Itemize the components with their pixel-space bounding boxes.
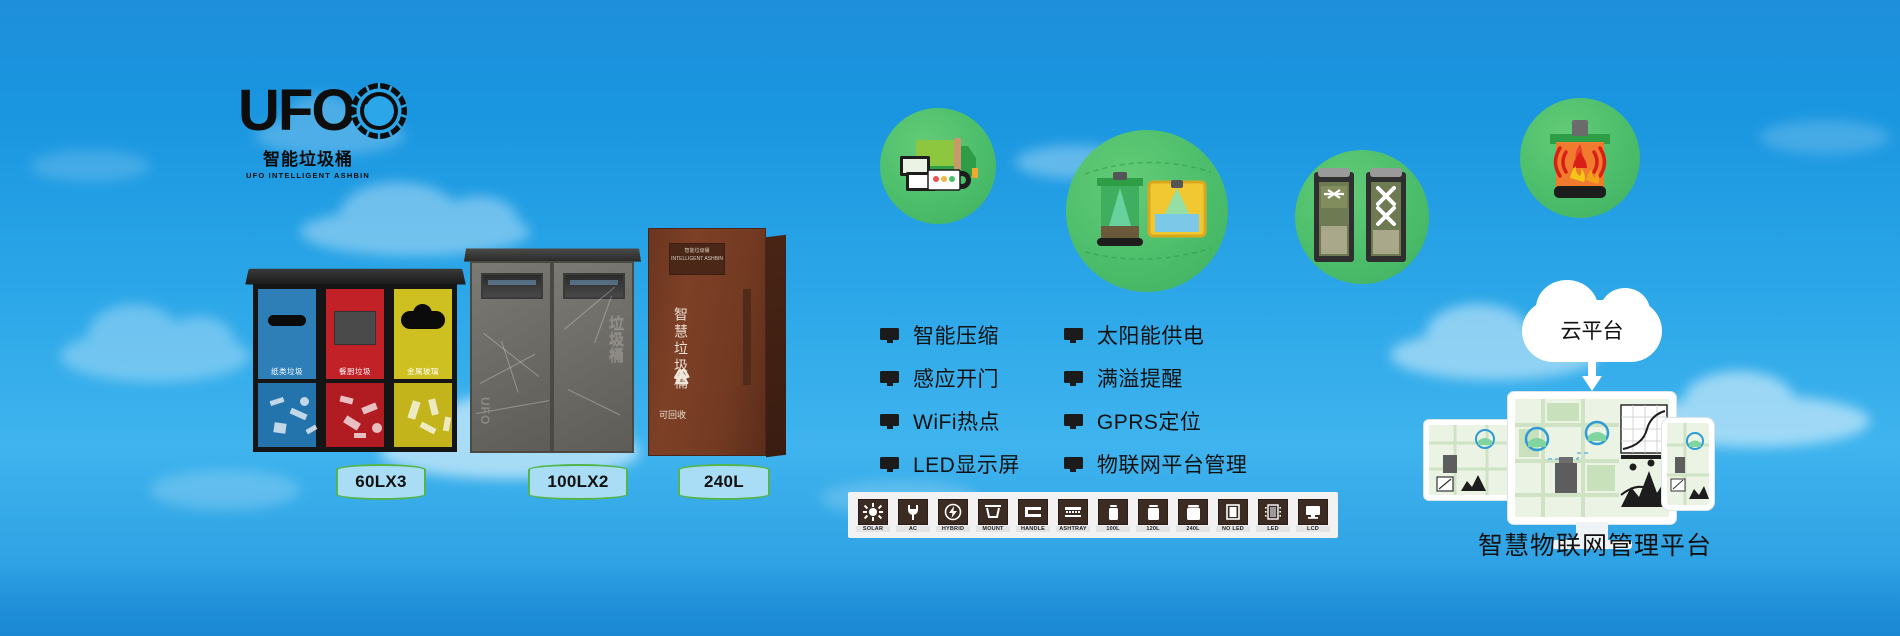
feature-item: 物联网平台管理: [1064, 449, 1248, 479]
spec-item-ac: AC: [896, 499, 930, 532]
dashboard-phone: [1662, 418, 1714, 510]
spec-item-100l: 100L: [1096, 499, 1130, 532]
spec-label: LCD: [1296, 526, 1330, 532]
feature-item: 满溢提醒: [1064, 363, 1248, 393]
cloud-decor: [60, 330, 250, 382]
compartment-label: 纸类垃圾: [258, 366, 316, 377]
bin-window-icon: [563, 273, 625, 299]
waste-graphic: [264, 389, 310, 441]
logo-chinese-name: 智能垃圾桶: [238, 145, 378, 170]
hybrid-power-icon: [938, 499, 968, 525]
drop-panel-icon: [334, 311, 376, 345]
compression-bin-circle: [1295, 150, 1429, 284]
monitor-icon: [1064, 371, 1083, 386]
drop-hole-icon: [401, 311, 445, 329]
compartment-upper: 纸类垃圾: [258, 289, 316, 385]
logo-wordmark: UFO: [238, 82, 354, 140]
brand-logo: UFO: [238, 82, 378, 180]
monitor-icon: [880, 457, 899, 472]
monitor-icon: [880, 414, 899, 429]
feature-item: GPRS定位: [1064, 406, 1248, 436]
bin-120l-icon: [1138, 499, 1168, 525]
compartment-label: 餐厨垃圾: [326, 366, 384, 377]
sun-icon: [858, 499, 888, 525]
fire-alarm-circle: [1520, 98, 1640, 218]
bin-window-icon: [481, 273, 543, 299]
map-graphic: [1667, 423, 1709, 505]
lcd-screen-icon: [1298, 499, 1328, 525]
dashboard-tablet: [1424, 420, 1520, 500]
spec-label: MOUNT: [976, 526, 1010, 532]
spec-label: LED: [1256, 526, 1290, 532]
ashtray-icon: [1058, 499, 1088, 525]
spec-item-no-led: NO LED: [1216, 499, 1250, 532]
monitor-icon: [880, 328, 899, 343]
ring-gear-icon: [350, 82, 408, 140]
bin-compartment-kitchen: 餐厨垃圾: [321, 284, 389, 452]
platform-caption: 智慧物联网管理平台: [1430, 526, 1760, 562]
spec-item-lcd: LCD: [1296, 499, 1330, 532]
feature-column-right: 太阳能供电 满溢提醒 GPRS定位 物联网平台管理: [1064, 320, 1248, 479]
compartment-lower: [258, 379, 316, 447]
cloud-decor: [1760, 120, 1890, 154]
bin-fill-sensor-icon: [1066, 130, 1228, 292]
garbage-truck-with-devices-icon: [880, 108, 996, 224]
compartment-upper: 金属玻璃: [394, 289, 452, 385]
feature-item: 太阳能供电: [1064, 320, 1248, 350]
feature-label: 感应开门: [913, 363, 999, 393]
compartment-upper: 餐厨垃圾: [326, 289, 384, 385]
collection-truck-circle: [880, 108, 996, 224]
double-bin-cell-left: UFO: [470, 261, 552, 453]
waste-graphic: [400, 389, 446, 441]
monitor-screen: [1508, 392, 1676, 524]
cloud-decor: [30, 150, 150, 182]
cloud-decor: [150, 470, 300, 510]
wall-mount-icon: [978, 499, 1008, 525]
single-bin-panel-text: 智能垃圾桶 INTELLIGENT ASHBIN: [670, 248, 724, 263]
spec-label: AC: [896, 526, 930, 532]
double-bin-cell-right: 垃圾桶: [552, 261, 634, 453]
spec-label: HYBRID: [936, 526, 970, 532]
feature-item: LED显示屏: [880, 449, 1020, 479]
single-bin-product: 智能垃圾桶 INTELLIGENT ASHBIN 智慧垃圾桶 可回收: [648, 228, 766, 456]
feature-list: 智能压缩 感应开门 WiFi热点 LED显示屏 太阳能供电 满溢提醒 GPRS定…: [880, 320, 1247, 479]
monitor-icon: [1064, 414, 1083, 429]
triple-bin-lid: [245, 269, 466, 285]
double-bin-side-text: 垃圾桶: [609, 315, 626, 363]
spec-item-solar: SOLAR: [856, 499, 890, 532]
led-panel-icon: [1258, 499, 1288, 525]
feature-label: 物联网平台管理: [1097, 449, 1248, 479]
iot-platform-illustration: 云平台: [1430, 300, 1760, 550]
feature-item: 智能压缩: [880, 320, 1020, 350]
single-bin-side-panel: [766, 235, 786, 457]
bottom-gradient-overlay: [0, 566, 1900, 636]
spec-label: HANDLE: [1016, 526, 1050, 532]
capacity-badge-60lx3: 60LX3: [336, 464, 426, 500]
spec-item-led: LED: [1256, 499, 1290, 532]
bin-100l-icon: [1098, 499, 1128, 525]
capacity-badge-100lx2: 100LX2: [528, 464, 628, 500]
compartment-label: 金属玻璃: [394, 366, 452, 377]
arrow-down-icon: [1580, 360, 1604, 392]
handle-icon: [1018, 499, 1048, 525]
single-bin-recycle-label: 可回收: [659, 408, 686, 421]
cloud-platform-label: 云平台: [1522, 300, 1662, 362]
feature-item: 感应开门: [880, 363, 1020, 393]
feature-item: WiFi热点: [880, 406, 1020, 436]
feature-label: 智能压缩: [913, 320, 999, 350]
double-bin-brand-mark: UFO: [478, 397, 492, 425]
cloud-platform-badge: 云平台: [1522, 300, 1662, 362]
feature-label: LED显示屏: [913, 449, 1020, 479]
drop-slot-icon: [268, 315, 306, 326]
monitor-icon: [1064, 328, 1083, 343]
spec-label: SOLAR: [856, 526, 890, 532]
triple-bin-product: 纸类垃圾 餐厨垃圾: [253, 268, 458, 453]
recycle-icon: [665, 369, 699, 403]
map-graphic: [1429, 425, 1515, 495]
no-led-panel-icon: [1218, 499, 1248, 525]
spec-label: 100L: [1096, 526, 1130, 532]
double-bin-lid: [464, 248, 641, 261]
compartment-lower: [394, 379, 452, 447]
logo-wordmark-row: UFO: [238, 82, 378, 142]
spec-label: ASHTRAY: [1056, 526, 1090, 532]
single-bin-body: 智能垃圾桶 INTELLIGENT ASHBIN 智慧垃圾桶 可回收: [648, 228, 766, 456]
feature-label: WiFi热点: [913, 406, 1000, 436]
feature-column-left: 智能压缩 感应开门 WiFi热点 LED显示屏: [880, 320, 1020, 479]
feature-label: 太阳能供电: [1097, 320, 1205, 350]
logo-english-name: UFO INTELLIGENT ASHBIN: [238, 171, 378, 180]
single-bin-top-panel: 智能垃圾桶 INTELLIGENT ASHBIN: [669, 243, 725, 275]
bin-compartment-paper: 纸类垃圾: [253, 284, 321, 452]
spec-item-mount: MOUNT: [976, 499, 1010, 532]
monitor-icon: [1064, 457, 1083, 472]
spec-item-ashtray: ASHTRAY: [1056, 499, 1090, 532]
twin-compaction-bins-icon: [1295, 150, 1429, 284]
power-plug-icon: [898, 499, 928, 525]
spec-icon-strip: SOLAR AC HYBRID MOUNT HANDLE: [848, 492, 1338, 538]
compartment-lower: [326, 379, 384, 447]
double-bin-product: UFO 垃圾桶: [470, 248, 635, 453]
capacity-badge-240l: 240L: [678, 464, 770, 500]
spec-item-240l: 240L: [1176, 499, 1210, 532]
spec-label: NO LED: [1216, 526, 1250, 532]
spec-item-120l: 120L: [1136, 499, 1170, 532]
dashboard-monitor: [1508, 392, 1676, 524]
spec-label: 240L: [1176, 526, 1210, 532]
feature-label: GPRS定位: [1097, 406, 1202, 436]
waste-graphic: [332, 389, 378, 441]
feature-label: 满溢提醒: [1097, 363, 1183, 393]
spec-item-handle: HANDLE: [1016, 499, 1050, 532]
spec-item-hybrid: HYBRID: [936, 499, 970, 532]
bin-fire-alarm-icon: [1520, 98, 1640, 218]
single-bin-door-seam: [743, 289, 751, 385]
monitor-icon: [880, 371, 899, 386]
spec-label: 120L: [1136, 526, 1170, 532]
bin-240l-icon: [1178, 499, 1208, 525]
sensor-bin-circle: [1066, 130, 1228, 292]
bin-compartment-metal-glass: 金属玻璃: [389, 284, 457, 452]
